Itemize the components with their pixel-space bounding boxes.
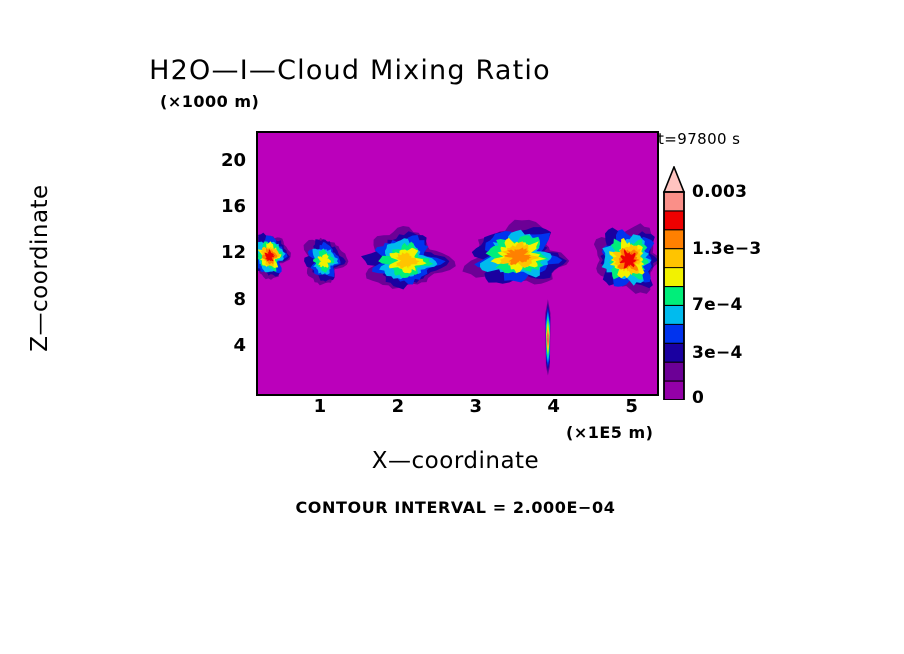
x-tick-1: 1 bbox=[305, 396, 335, 417]
colorbar[interactable] bbox=[661, 166, 687, 400]
y-tick-20: 20 bbox=[206, 150, 246, 171]
y-tick-16: 16 bbox=[206, 196, 246, 217]
colorbar-band bbox=[664, 287, 684, 307]
colorbar-band bbox=[664, 268, 684, 288]
contour-plot-area[interactable] bbox=[256, 131, 659, 396]
y-axis-title: Z—coordinate bbox=[27, 168, 53, 368]
y-tick-8: 8 bbox=[206, 289, 246, 310]
y-tick-12: 12 bbox=[206, 242, 246, 263]
y-axis-tick-labels: 48121620 bbox=[198, 0, 246, 654]
colorbar-label-3: 3e−4 bbox=[692, 343, 743, 363]
colorbar-band bbox=[664, 324, 684, 344]
colorbar-band bbox=[664, 230, 684, 250]
y-tick-4: 4 bbox=[206, 335, 246, 356]
colorbar-band bbox=[664, 381, 684, 400]
colorbar-band bbox=[664, 249, 684, 269]
colorbar-tick-labels: 0.0031.3e−37e−43e−40 bbox=[692, 166, 802, 406]
x-axis-title: X—coordinate bbox=[256, 448, 655, 474]
colorbar-band bbox=[664, 343, 684, 363]
contour-interval-caption: CONTOUR INTERVAL = 2.000E−04 bbox=[256, 498, 655, 517]
colorbar-arrow bbox=[664, 167, 684, 192]
colorbar-band bbox=[664, 211, 684, 231]
x-tick-2: 2 bbox=[383, 396, 413, 417]
simulation-time-label: t=97800 s bbox=[658, 130, 740, 148]
page-title: H2O—I—Cloud Mixing Ratio bbox=[0, 55, 700, 86]
colorbar-label-0: 0.003 bbox=[692, 182, 747, 202]
x-tick-5: 5 bbox=[617, 396, 647, 417]
colorbar-label-4: 0 bbox=[692, 388, 704, 408]
colorbar-band bbox=[664, 362, 684, 382]
x-tick-3: 3 bbox=[461, 396, 491, 417]
colorbar-band bbox=[664, 305, 684, 325]
x-tick-4: 4 bbox=[539, 396, 569, 417]
colorbar-label-1: 1.3e−3 bbox=[692, 239, 762, 259]
contour-field bbox=[258, 133, 657, 394]
colorbar-band bbox=[664, 192, 684, 212]
colorbar-label-2: 7e−4 bbox=[692, 295, 743, 315]
